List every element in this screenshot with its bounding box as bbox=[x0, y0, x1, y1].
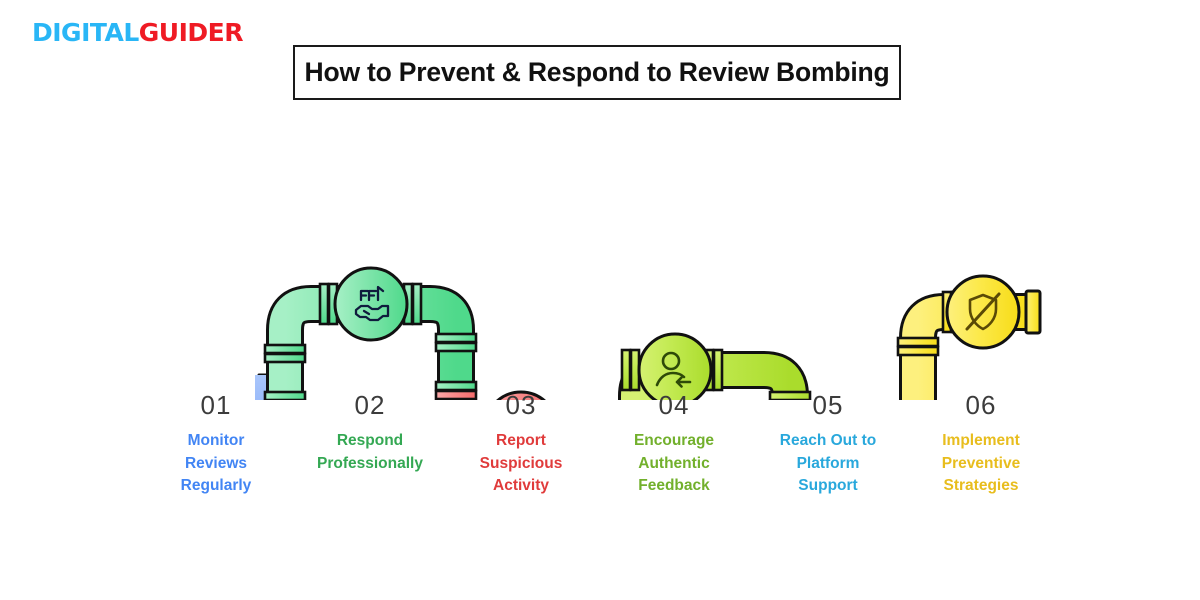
step-number: 04 bbox=[594, 390, 754, 421]
step-title-line: Monitor bbox=[136, 430, 296, 452]
step-title-line: Implement bbox=[901, 430, 1061, 452]
step-label-row: 01 Monitor Reviews Regularly 02 Respond … bbox=[0, 390, 1200, 530]
step-title: Reach Out to Platform Support bbox=[748, 430, 908, 497]
step-title-line: Respond bbox=[290, 430, 450, 452]
pipeline-diagram bbox=[0, 130, 1200, 400]
step-03: 03 Report Suspicious Activity bbox=[441, 390, 601, 498]
step-title-line: Regularly bbox=[136, 475, 296, 497]
step-number: 05 bbox=[748, 390, 908, 421]
step-title-line: Reviews bbox=[136, 453, 296, 475]
step-title-line: Suspicious bbox=[441, 453, 601, 475]
step-title-line: Feedback bbox=[594, 475, 754, 497]
step-number: 03 bbox=[441, 390, 601, 421]
step-number: 01 bbox=[136, 390, 296, 421]
step-title: Respond Professionally bbox=[290, 430, 450, 475]
page-title: How to Prevent & Respond to Review Bombi… bbox=[305, 57, 890, 88]
pipe-run bbox=[158, 268, 1040, 400]
step-node-02[interactable] bbox=[335, 268, 407, 340]
brand-logo: DIGITALGUIDER bbox=[32, 18, 243, 47]
step-title-line: Strategies bbox=[901, 475, 1061, 497]
step-number: 02 bbox=[290, 390, 450, 421]
logo-text-primary: DIGITAL bbox=[32, 18, 139, 47]
step-01: 01 Monitor Reviews Regularly bbox=[136, 390, 296, 498]
step-05: 05 Reach Out to Platform Support bbox=[748, 390, 908, 498]
step-title-line: Preventive bbox=[901, 453, 1061, 475]
step-title-line: Platform bbox=[748, 453, 908, 475]
step-title-line: Professionally bbox=[290, 453, 450, 475]
step-title: Encourage Authentic Feedback bbox=[594, 430, 754, 497]
step-04: 04 Encourage Authentic Feedback bbox=[594, 390, 754, 498]
title-box: How to Prevent & Respond to Review Bombi… bbox=[293, 45, 901, 100]
step-number: 06 bbox=[901, 390, 1061, 421]
step-node-06[interactable] bbox=[947, 276, 1019, 348]
step-06: 06 Implement Preventive Strategies bbox=[901, 390, 1061, 498]
pipe-end-cap-right bbox=[1026, 291, 1040, 333]
step-title: Monitor Reviews Regularly bbox=[136, 430, 296, 497]
step-title-line: Support bbox=[748, 475, 908, 497]
step-title-line: Encourage bbox=[594, 430, 754, 452]
step-title-line: Activity bbox=[441, 475, 601, 497]
logo-text-secondary: GUIDER bbox=[139, 18, 243, 47]
step-title-line: Report bbox=[441, 430, 601, 452]
infographic-page: DIGITALGUIDER How to Prevent & Respond t… bbox=[0, 0, 1200, 600]
step-title-line: Reach Out to bbox=[748, 430, 908, 452]
step-title: Report Suspicious Activity bbox=[441, 430, 601, 497]
step-02: 02 Respond Professionally bbox=[290, 390, 450, 475]
step-title-line: Authentic bbox=[594, 453, 754, 475]
step-title: Implement Preventive Strategies bbox=[901, 430, 1061, 497]
